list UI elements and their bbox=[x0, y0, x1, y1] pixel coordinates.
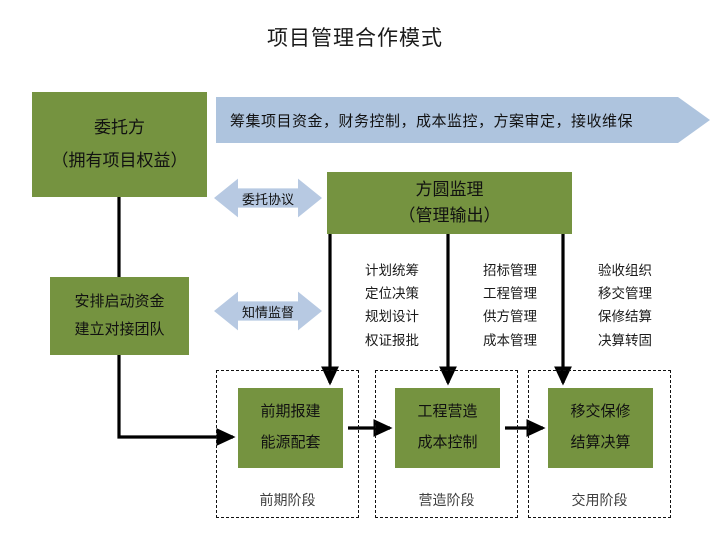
node-startup-funds-line2: 建立对接团队 bbox=[74, 316, 164, 345]
task-item: 权证报批 bbox=[352, 329, 432, 352]
node-stage3-line1: 移交保修 bbox=[570, 397, 630, 429]
task-item: 计划统筹 bbox=[352, 259, 432, 282]
diagram-canvas: 项目管理合作模式 筹集项目资金，财务控制，成本监控，方案审定，接收维保 委托协议 bbox=[0, 0, 710, 555]
node-client-line2: （拥有项目权益） bbox=[52, 145, 188, 177]
node-stage-handover: 移交保修 结算决算 bbox=[548, 388, 653, 468]
phase-label-handover: 交用阶段 bbox=[528, 490, 671, 510]
task-item: 招标管理 bbox=[470, 259, 550, 282]
task-column-preliminary: 计划统筹 定位决策 规划设计 权证报批 bbox=[352, 259, 432, 352]
node-client: 委托方 （拥有项目权益） bbox=[32, 92, 207, 197]
task-item: 规划设计 bbox=[352, 305, 432, 328]
task-item: 成本管理 bbox=[470, 329, 550, 352]
task-item: 决算转固 bbox=[585, 329, 665, 352]
node-client-line1: 委托方 bbox=[94, 112, 145, 144]
node-startup-funds: 安排启动资金 建立对接团队 bbox=[50, 277, 189, 355]
relation-arrow-label: 知情监督 bbox=[214, 289, 322, 333]
phase-label-construction: 营造阶段 bbox=[375, 490, 518, 510]
node-stage3-line2: 结算决算 bbox=[570, 428, 630, 460]
task-item: 验收组织 bbox=[585, 259, 665, 282]
task-column-handover: 验收组织 移交管理 保修结算 决算转固 bbox=[585, 259, 665, 352]
finance-responsibility-banner: 筹集项目资金，财务控制，成本监控，方案审定，接收维保 bbox=[216, 97, 710, 143]
phase-label-preliminary: 前期阶段 bbox=[216, 490, 359, 510]
banner-label: 筹集项目资金，财务控制，成本监控，方案审定，接收维保 bbox=[230, 97, 633, 143]
task-item: 定位决策 bbox=[352, 282, 432, 305]
page-title: 项目管理合作模式 bbox=[0, 22, 710, 52]
task-item: 工程管理 bbox=[470, 282, 550, 305]
node-supervisor-line2: （管理输出） bbox=[399, 203, 501, 229]
node-stage2-line1: 工程营造 bbox=[417, 397, 477, 429]
node-stage-construction: 工程营造 成本控制 bbox=[395, 388, 500, 468]
relation-arrow-entrust-agreement: 委托协议 bbox=[214, 176, 322, 220]
node-supervisor: 方圆监理 （管理输出） bbox=[327, 172, 572, 234]
task-item: 供方管理 bbox=[470, 305, 550, 328]
relation-arrow-label: 委托协议 bbox=[214, 176, 322, 220]
node-stage1-line1: 前期报建 bbox=[260, 397, 320, 429]
node-stage-preliminary: 前期报建 能源配套 bbox=[238, 388, 343, 468]
task-item: 保修结算 bbox=[585, 305, 665, 328]
node-stage2-line2: 成本控制 bbox=[417, 428, 477, 460]
task-item: 移交管理 bbox=[585, 282, 665, 305]
node-supervisor-line1: 方圆监理 bbox=[416, 177, 484, 203]
task-column-construction: 招标管理 工程管理 供方管理 成本管理 bbox=[470, 259, 550, 352]
node-stage1-line2: 能源配套 bbox=[260, 428, 320, 460]
node-startup-funds-line1: 安排启动资金 bbox=[74, 288, 164, 317]
relation-arrow-informed-supervision: 知情监督 bbox=[214, 289, 322, 333]
